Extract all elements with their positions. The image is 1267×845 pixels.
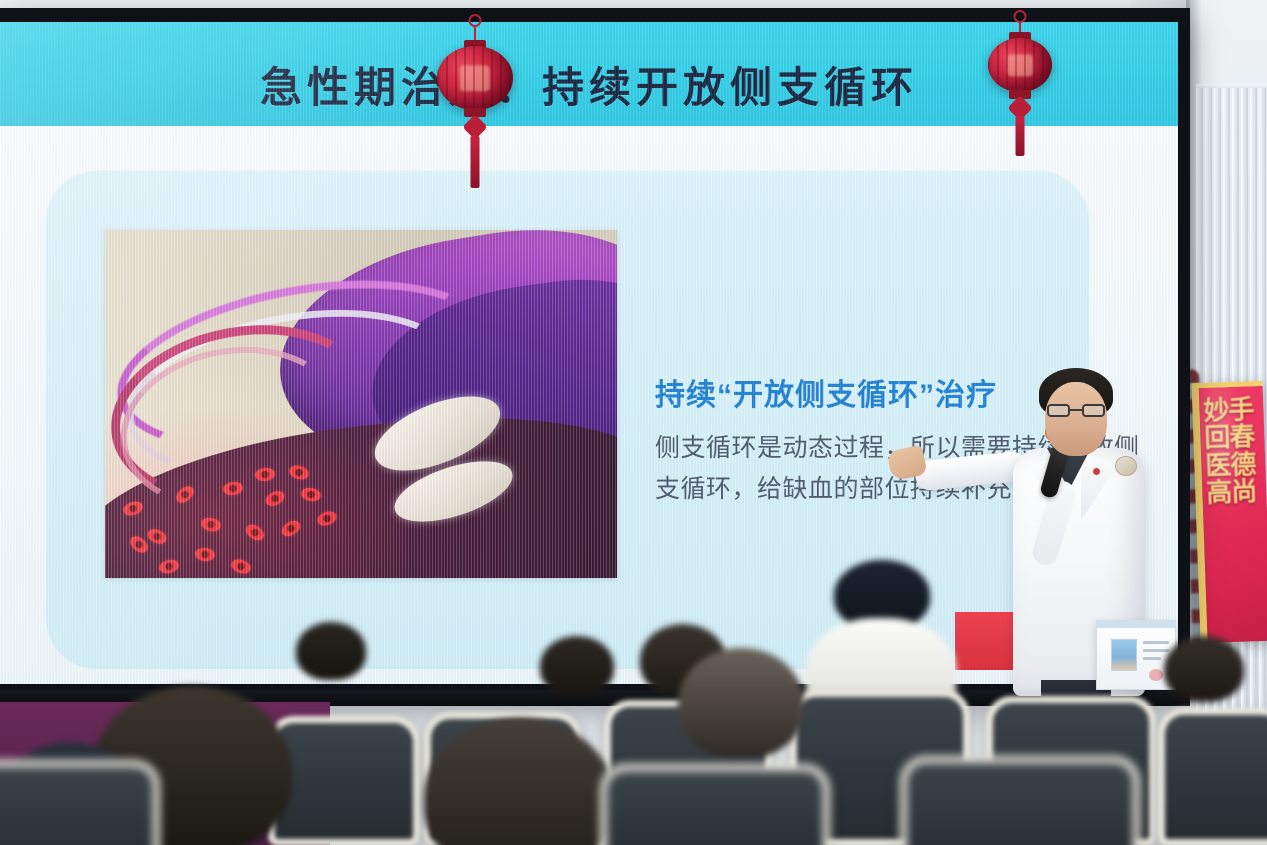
- banner-field: 妙手回春 医德高尚: [1191, 381, 1267, 643]
- audience-member: [678, 648, 808, 768]
- audience-member: [1164, 636, 1244, 702]
- glasses-icon: [1047, 404, 1105, 417]
- jinqi-gratitude-banner: 妙手回春 医德高尚: [1191, 381, 1267, 643]
- auditorium-seat: [900, 756, 1140, 845]
- blood-vessel-illustration: [105, 230, 617, 578]
- auditorium-seat: [0, 760, 160, 845]
- lantern-icon: [975, 0, 1065, 180]
- audience-member: [540, 636, 614, 696]
- auditorium-seat: [600, 764, 830, 845]
- placard-photo: [1111, 639, 1137, 671]
- lantern-icon: [430, 0, 520, 200]
- face: [1045, 382, 1107, 456]
- shoulder-badge: [1115, 456, 1137, 476]
- lecture-hall-scene: 妙手回春 医德高尚 急性期治疗：持续开放侧支循环: [0, 0, 1267, 845]
- auditorium-seat: [1158, 708, 1267, 845]
- audience-member: [296, 622, 366, 680]
- banner-text: 妙手回春 医德高尚: [1203, 396, 1263, 507]
- lapel-pin: [1093, 468, 1100, 475]
